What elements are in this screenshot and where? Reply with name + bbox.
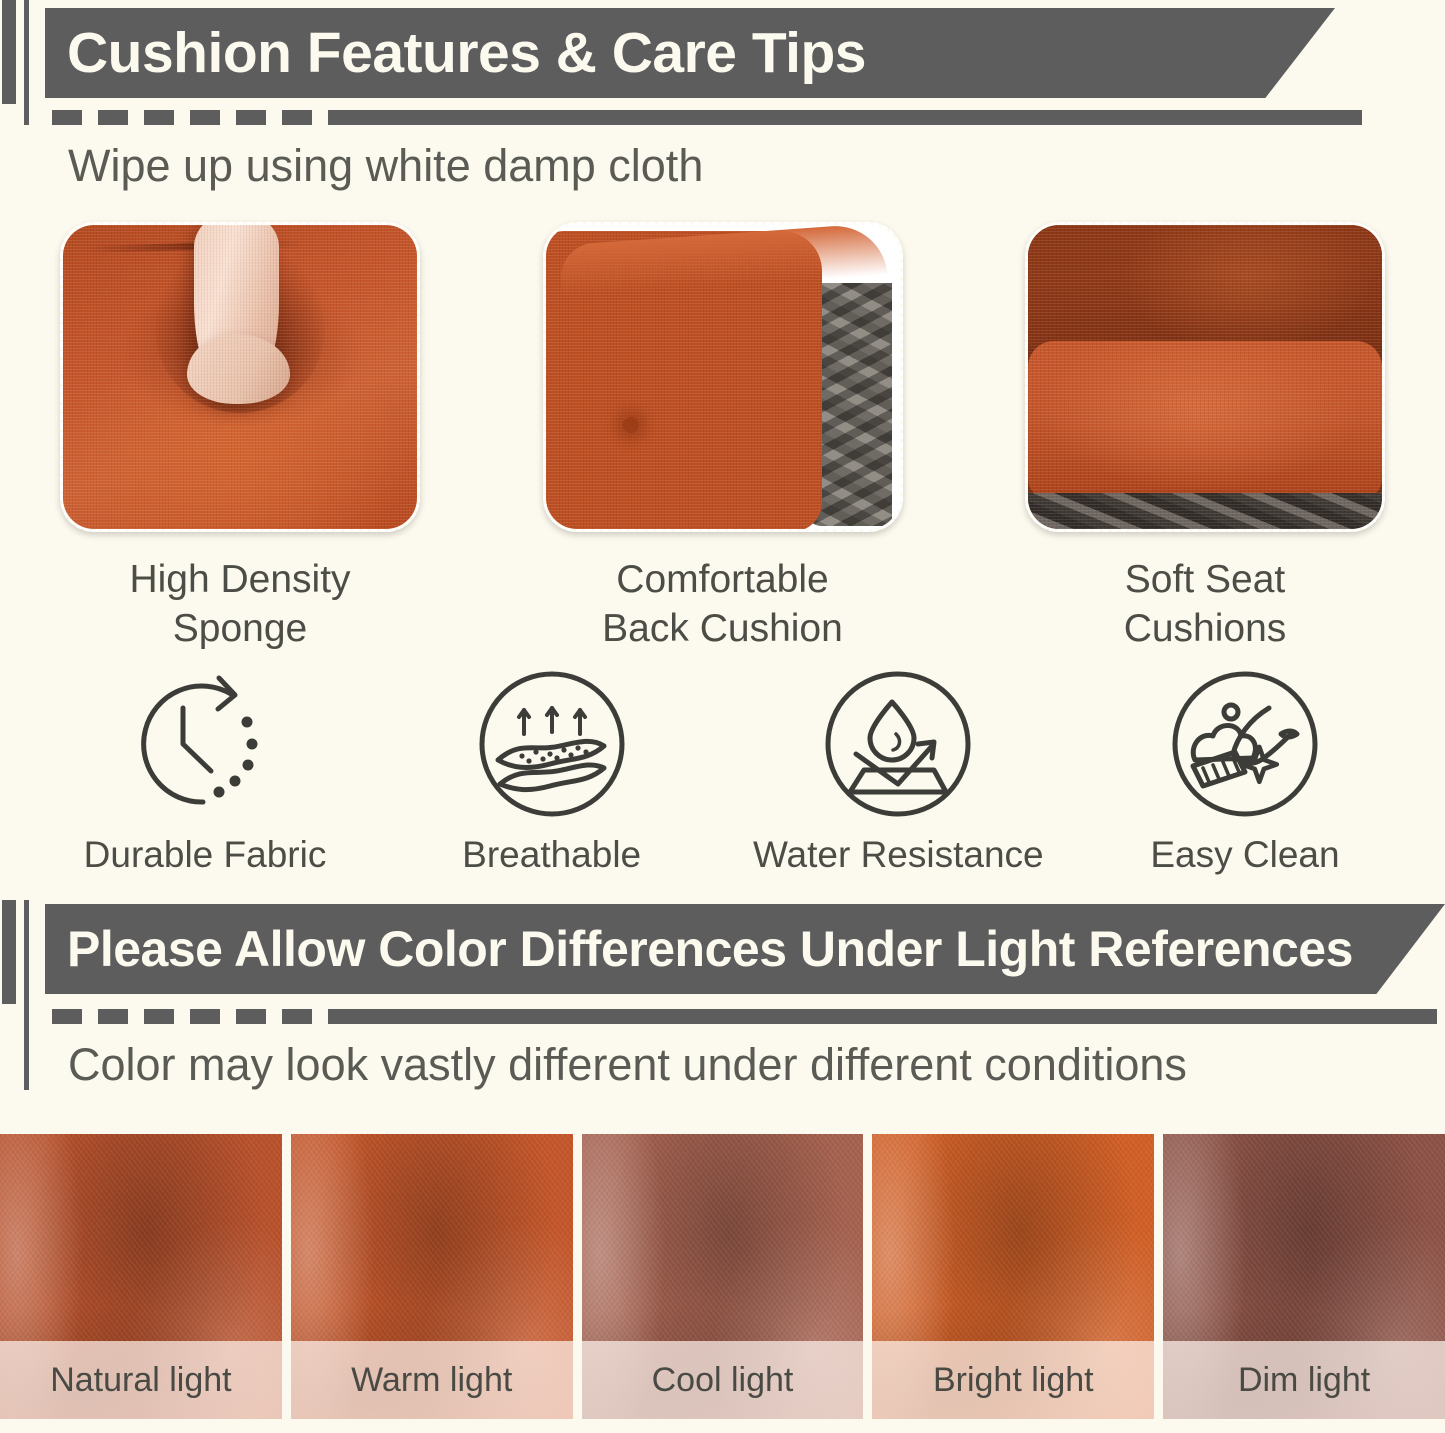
divider-dash (190, 110, 220, 125)
divider-dash (282, 1009, 312, 1024)
left-rail-thin-bottom (24, 900, 29, 1090)
divider-dash (144, 110, 174, 125)
feature-photo-row (60, 222, 1385, 542)
caption-high-density-sponge: High DensitySponge (60, 556, 420, 654)
photo-soft-seat-cushions (1025, 222, 1385, 532)
divider-dash (190, 1009, 220, 1024)
feature-label: Durable Fabric (84, 836, 327, 873)
feature-label: Water Resistance (753, 836, 1044, 873)
section-one-subtitle: Wipe up using white damp cloth (68, 143, 703, 188)
divider-dash (52, 110, 82, 125)
swatch-label: Cool light (652, 1363, 794, 1397)
brush-sparkle-icon (1169, 668, 1321, 820)
swatch-label-band: Warm light (291, 1341, 573, 1419)
feature-label: Easy Clean (1150, 836, 1339, 873)
feature-breathable: Breathable (402, 668, 702, 873)
tufting-button (623, 417, 639, 433)
divider-dash (98, 110, 128, 125)
divider-dash (98, 1009, 128, 1024)
feature-durable-fabric: Durable Fabric (55, 668, 355, 873)
swatch-warm-light: Warm light (291, 1134, 573, 1419)
swatch-label: Natural light (50, 1363, 231, 1397)
swatch-natural-light: Natural light (0, 1134, 282, 1419)
clock-arrow-icon (119, 668, 291, 820)
left-rail-wide-bottom (2, 900, 16, 1004)
caption-soft-seat-cushions: Soft SeatCushions (1025, 556, 1385, 654)
left-rail-thin-top (24, 0, 29, 125)
section-one-banner: Cushion Features & Care Tips (45, 8, 1335, 98)
swatch-bright-light: Bright light (872, 1134, 1154, 1419)
section-two-banner-title: Please Allow Color Differences Under Lig… (45, 924, 1353, 974)
photo-content (1028, 225, 1382, 529)
section-one-banner-title: Cushion Features & Care Tips (45, 25, 866, 82)
divider-dash (144, 1009, 174, 1024)
photo-high-density-sponge (60, 222, 420, 532)
divider-dash (52, 1009, 82, 1024)
left-rail-wide-top (2, 0, 16, 104)
swatch-label-band: Dim light (1163, 1341, 1445, 1419)
photo-content (63, 225, 417, 529)
photo-comfortable-back-cushion (543, 222, 903, 532)
swatch-label: Warm light (351, 1363, 512, 1397)
caption-comfortable-back-cushion: ComfortableBack Cushion (543, 556, 903, 654)
feature-easy-clean: Easy Clean (1095, 668, 1395, 873)
divider-dash (282, 110, 312, 125)
section-two-subtitle: Color may look vastly different under di… (68, 1042, 1187, 1087)
swatch-label-band: Cool light (582, 1341, 864, 1419)
section-two-banner: Please Allow Color Differences Under Lig… (45, 904, 1445, 994)
divider-solid-bar (328, 1009, 1437, 1024)
breathable-fabric-icon (476, 668, 628, 820)
swatch-label-band: Natural light (0, 1341, 282, 1419)
dash-divider-bottom (52, 1009, 1437, 1024)
feature-icon-row: Durable Fabric (55, 668, 1395, 873)
swatch-dim-light: Dim light (1163, 1134, 1445, 1419)
fabric-weave-texture (1028, 225, 1382, 529)
divider-dash (236, 1009, 266, 1024)
swatch-label: Bright light (933, 1363, 1094, 1397)
dash-divider-top (52, 110, 1362, 125)
color-swatch-row: Natural light Warm light Cool light Brig… (0, 1134, 1445, 1419)
swatch-label: Dim light (1238, 1363, 1370, 1397)
divider-dash (236, 110, 266, 125)
divider-solid-bar (328, 110, 1362, 125)
fabric-weave-texture (63, 225, 417, 529)
feature-caption-row: High DensitySponge ComfortableBack Cushi… (60, 556, 1385, 654)
water-droplet-repel-icon (822, 668, 974, 820)
feature-label: Breathable (462, 836, 641, 873)
photo-content (546, 225, 900, 529)
swatch-cool-light: Cool light (582, 1134, 864, 1419)
feature-water-resistance: Water Resistance (748, 668, 1048, 873)
swatch-label-band: Bright light (872, 1341, 1154, 1419)
